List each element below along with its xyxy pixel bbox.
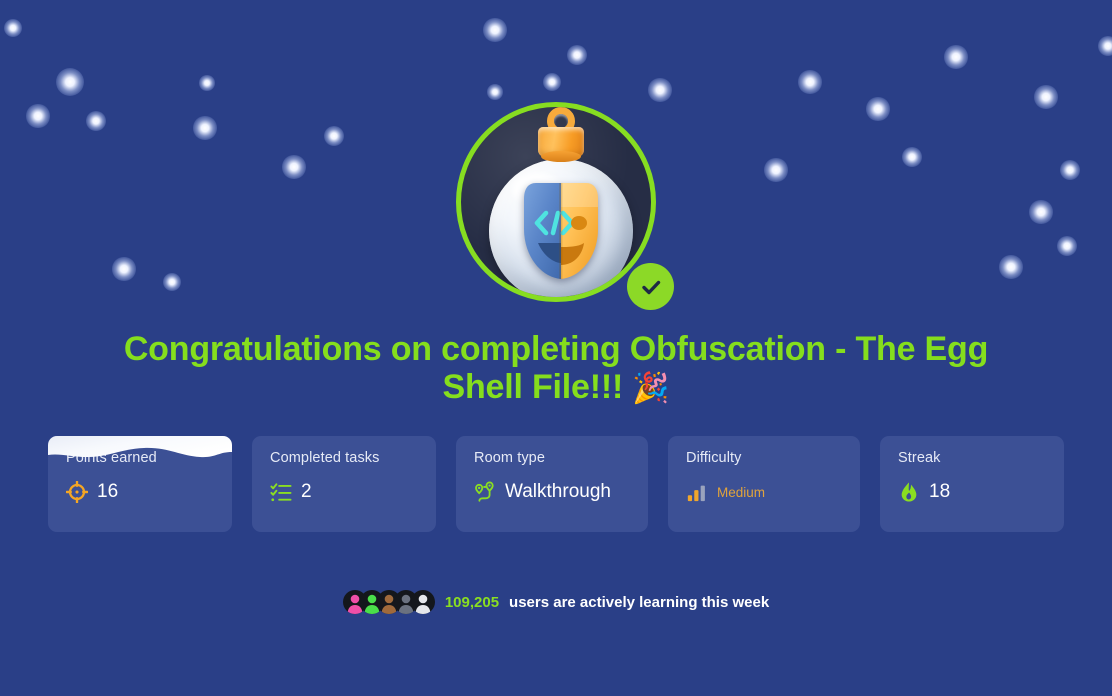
page-title-text: Congratulations on completing Obfuscatio…	[124, 330, 988, 406]
bauble-ornament-icon	[489, 159, 633, 302]
stat-card-completed-tasks: Completed tasks 2	[252, 436, 436, 532]
bauble-cap-icon	[538, 127, 584, 157]
stats-card-row: Points earned 16 Completed tasks	[48, 436, 1064, 532]
stat-value-row: 16	[66, 481, 232, 503]
stat-label: Points earned	[66, 450, 232, 466]
stat-card-streak: Streak 18	[880, 436, 1064, 532]
stat-card-difficulty: Difficulty Medium	[668, 436, 860, 532]
avatar	[411, 590, 435, 614]
check-icon	[638, 274, 664, 300]
difficulty-bars-icon	[686, 481, 708, 503]
stat-label: Room type	[474, 450, 648, 466]
theater-code-mask-icon	[522, 181, 600, 281]
stat-value-row: Walkthrough	[474, 481, 648, 503]
active-learners-footer: 109,205 users are actively learning this…	[343, 590, 769, 614]
route-path-icon	[474, 481, 496, 503]
avatar-figure-icon	[411, 590, 435, 614]
stat-value: Walkthrough	[505, 481, 611, 503]
stat-label: Completed tasks	[270, 450, 436, 466]
completed-check-badge	[627, 263, 674, 310]
stat-value-row: Medium	[686, 481, 860, 503]
stat-value: 2	[301, 481, 312, 503]
avatar-group	[343, 590, 435, 614]
target-crosshair-icon	[66, 481, 88, 503]
stat-value: 16	[97, 481, 118, 503]
completion-badge	[456, 102, 656, 302]
stat-value-row: 2	[270, 481, 436, 503]
stat-card-room-type: Room type Walkthrough	[456, 436, 648, 532]
stat-card-points-earned: Points earned 16	[48, 436, 232, 532]
active-users-text: users are actively learning this week	[509, 594, 769, 611]
flame-icon	[898, 481, 920, 503]
stat-label: Difficulty	[686, 450, 860, 466]
active-users-count: 109,205	[445, 594, 499, 611]
stat-value-row: 18	[898, 481, 1064, 503]
party-popper-icon: 🎉	[632, 372, 669, 405]
stat-label: Streak	[898, 450, 1064, 466]
stat-value: Medium	[717, 485, 765, 500]
stat-value: 18	[929, 481, 950, 503]
checklist-icon	[270, 481, 292, 503]
page-title: Congratulations on completing Obfuscatio…	[106, 330, 1006, 406]
badge-ring	[456, 102, 656, 302]
room-completion-page: Congratulations on completing Obfuscatio…	[0, 0, 1112, 696]
